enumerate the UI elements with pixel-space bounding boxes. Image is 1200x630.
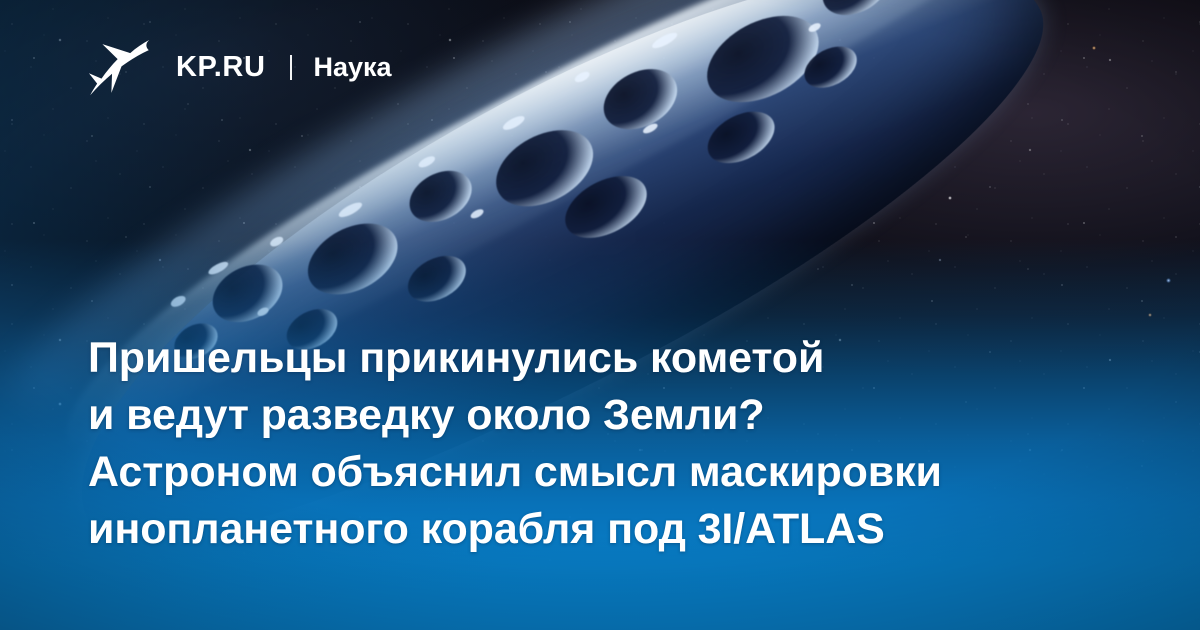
brand-separator <box>290 55 292 80</box>
swallow-bird-icon[interactable] <box>88 38 150 96</box>
headline-line-1: Пришельцы прикинулись кометой <box>88 330 1108 387</box>
headline-line-3: Астроном объяснил смысл маскировки <box>88 444 1108 501</box>
brand-name[interactable]: KP.RU <box>176 53 266 82</box>
social-share-card: KP.RU Наука Пришельцы прикинулись комето… <box>0 0 1200 630</box>
brand-header: KP.RU Наука <box>88 36 392 98</box>
headline: Пришельцы прикинулись кометой и ведут ра… <box>88 330 1108 558</box>
headline-line-4: инопланетного корабля под 3I/ATLAS <box>88 501 1108 558</box>
brand-lockup: KP.RU Наука <box>176 53 392 82</box>
headline-line-2: и ведут разведку около Земли? <box>88 387 1108 444</box>
brand-section-label[interactable]: Наука <box>314 54 392 81</box>
